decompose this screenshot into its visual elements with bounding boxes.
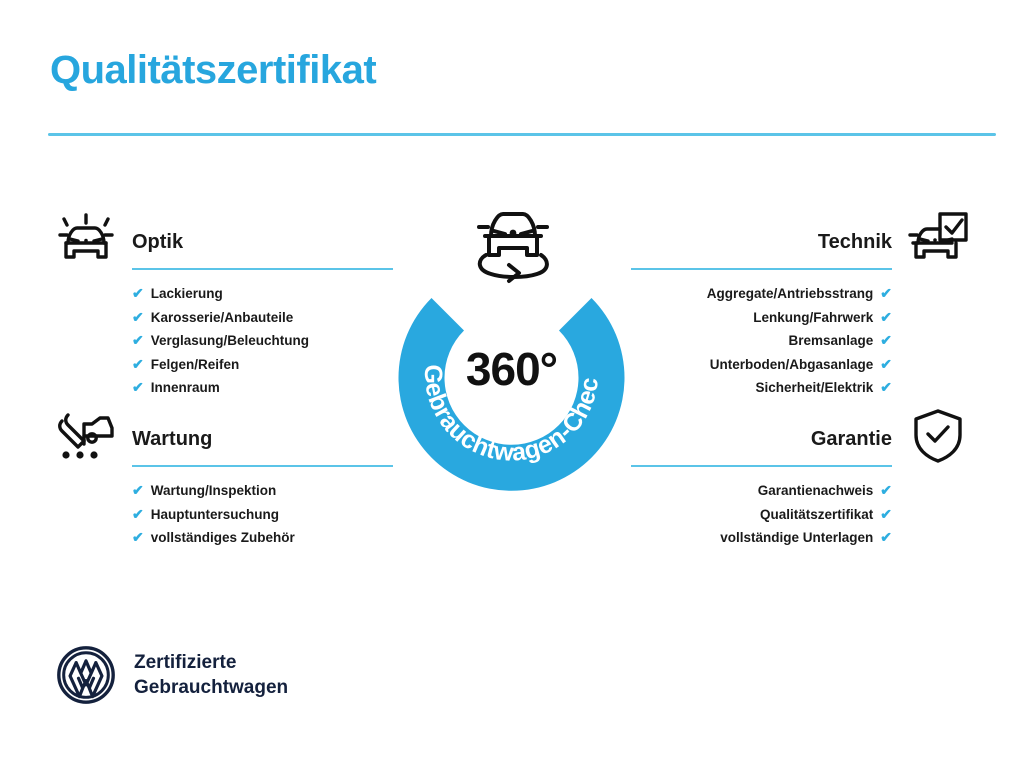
header-divider [48,133,996,136]
checklist-optik: ✔Lackierung ✔Karosserie/Anbauteile ✔Verg… [48,270,393,400]
check-icon: ✔ [880,310,892,324]
car-shine-icon [48,208,124,270]
check-icon: ✔ [880,380,892,394]
section-optik: Optik ✔Lackierung ✔Karosserie/Anbauteile… [48,208,393,400]
check-icon: ✔ [132,286,144,300]
list-item: ✔Lackierung [132,282,393,306]
list-item: ✔Karosserie/Anbauteile [132,306,393,330]
section-wartung: Wartung ✔Wartung/Inspektion ✔Hauptunters… [48,405,393,550]
section-title-optik: Optik [132,231,183,254]
check-icon: ✔ [880,483,892,497]
list-item-label: Hauptuntersuchung [151,503,279,527]
section-underline-technik [631,268,892,270]
list-item-label: Innenraum [151,376,220,400]
list-item: ✔Felgen/Reifen [132,353,393,377]
car-checkbox-icon [900,208,976,270]
shield-check-icon [900,405,976,467]
section-underline-wartung [132,465,393,467]
section-title-technik: Technik [818,231,892,254]
car-rotate-360-icon [465,192,561,288]
page-title: Qualitätszertifikat [50,48,376,92]
list-item-label: Verglasung/Beleuchtung [151,329,309,353]
list-item-label: Karosserie/Anbauteile [151,306,294,330]
list-item: ✔Wartung/Inspektion [132,479,393,503]
list-item: Aggregate/Antriebsstrang✔ [631,282,892,306]
list-item: Bremsanlage✔ [631,329,892,353]
360-check-badge: Gebrauchtwagen-Check 360° [379,192,644,492]
section-garantie: Garantie Garantienachweis✔ Qualitätszert… [631,405,976,550]
check-icon: ✔ [132,507,144,521]
quality-certificate-page: Qualitätszertifikat Optik [0,0,1024,768]
badge-center-label: 360° [379,342,644,396]
section-header-optik: Optik [48,208,393,270]
list-item: Qualitätszertifikat✔ [631,503,892,527]
list-item: ✔Verglasung/Beleuchtung [132,329,393,353]
list-item: Sicherheit/Elektrik✔ [631,376,892,400]
list-item: Garantienachweis✔ [631,479,892,503]
list-item: ✔Innenraum [132,376,393,400]
list-item-label: Lackierung [151,282,223,306]
list-item: ✔vollständiges Zubehör [132,526,393,550]
list-item: Lenkung/Fahrwerk✔ [631,306,892,330]
list-item: Unterboden/Abgasanlage✔ [631,353,892,377]
check-icon: ✔ [132,530,144,544]
check-icon: ✔ [880,507,892,521]
list-item-label: Bremsanlage [788,329,873,353]
list-item-label: Unterboden/Abgasanlage [710,353,874,377]
list-item-label: Qualitätszertifikat [760,503,873,527]
list-item-label: vollständiges Zubehör [151,526,295,550]
footer-brand-line1: Zertifizierte [134,650,288,675]
list-item: vollständige Unterlagen✔ [631,526,892,550]
section-header-wartung: Wartung [48,405,393,467]
section-title-garantie: Garantie [811,428,892,451]
check-icon: ✔ [880,357,892,371]
list-item-label: Lenkung/Fahrwerk [753,306,873,330]
check-icon: ✔ [880,333,892,347]
check-icon: ✔ [132,380,144,394]
check-icon: ✔ [132,483,144,497]
list-item-label: Wartung/Inspektion [151,479,277,503]
list-item-label: Sicherheit/Elektrik [755,376,873,400]
section-underline-optik [132,268,393,270]
list-item: ✔Hauptuntersuchung [132,503,393,527]
check-icon: ✔ [132,333,144,347]
checklist-technik: Aggregate/Antriebsstrang✔ Lenkung/Fahrwe… [631,270,976,400]
section-title-wartung: Wartung [132,428,212,451]
check-icon: ✔ [880,530,892,544]
footer-brand: Zertifizierte Gebrauchtwagen [56,645,288,705]
list-item-label: vollständige Unterlagen [720,526,873,550]
check-icon: ✔ [880,286,892,300]
wrench-car-service-icon [48,405,124,467]
list-item-label: Felgen/Reifen [151,353,240,377]
checklist-wartung: ✔Wartung/Inspektion ✔Hauptuntersuchung ✔… [48,467,393,550]
volkswagen-logo [56,645,116,705]
check-icon: ✔ [132,357,144,371]
section-underline-garantie [631,465,892,467]
section-header-garantie: Garantie [631,405,976,467]
list-item-label: Garantienachweis [758,479,874,503]
footer-brand-line2: Gebrauchtwagen [134,675,288,700]
list-item-label: Aggregate/Antriebsstrang [707,282,874,306]
section-header-technik: Technik [631,208,976,270]
footer-brand-text: Zertifizierte Gebrauchtwagen [134,650,288,700]
check-icon: ✔ [132,310,144,324]
checklist-garantie: Garantienachweis✔ Qualitätszertifikat✔ v… [631,467,976,550]
section-technik: Technik Aggregate/Antriebsstrang✔ Lenkun… [631,208,976,400]
